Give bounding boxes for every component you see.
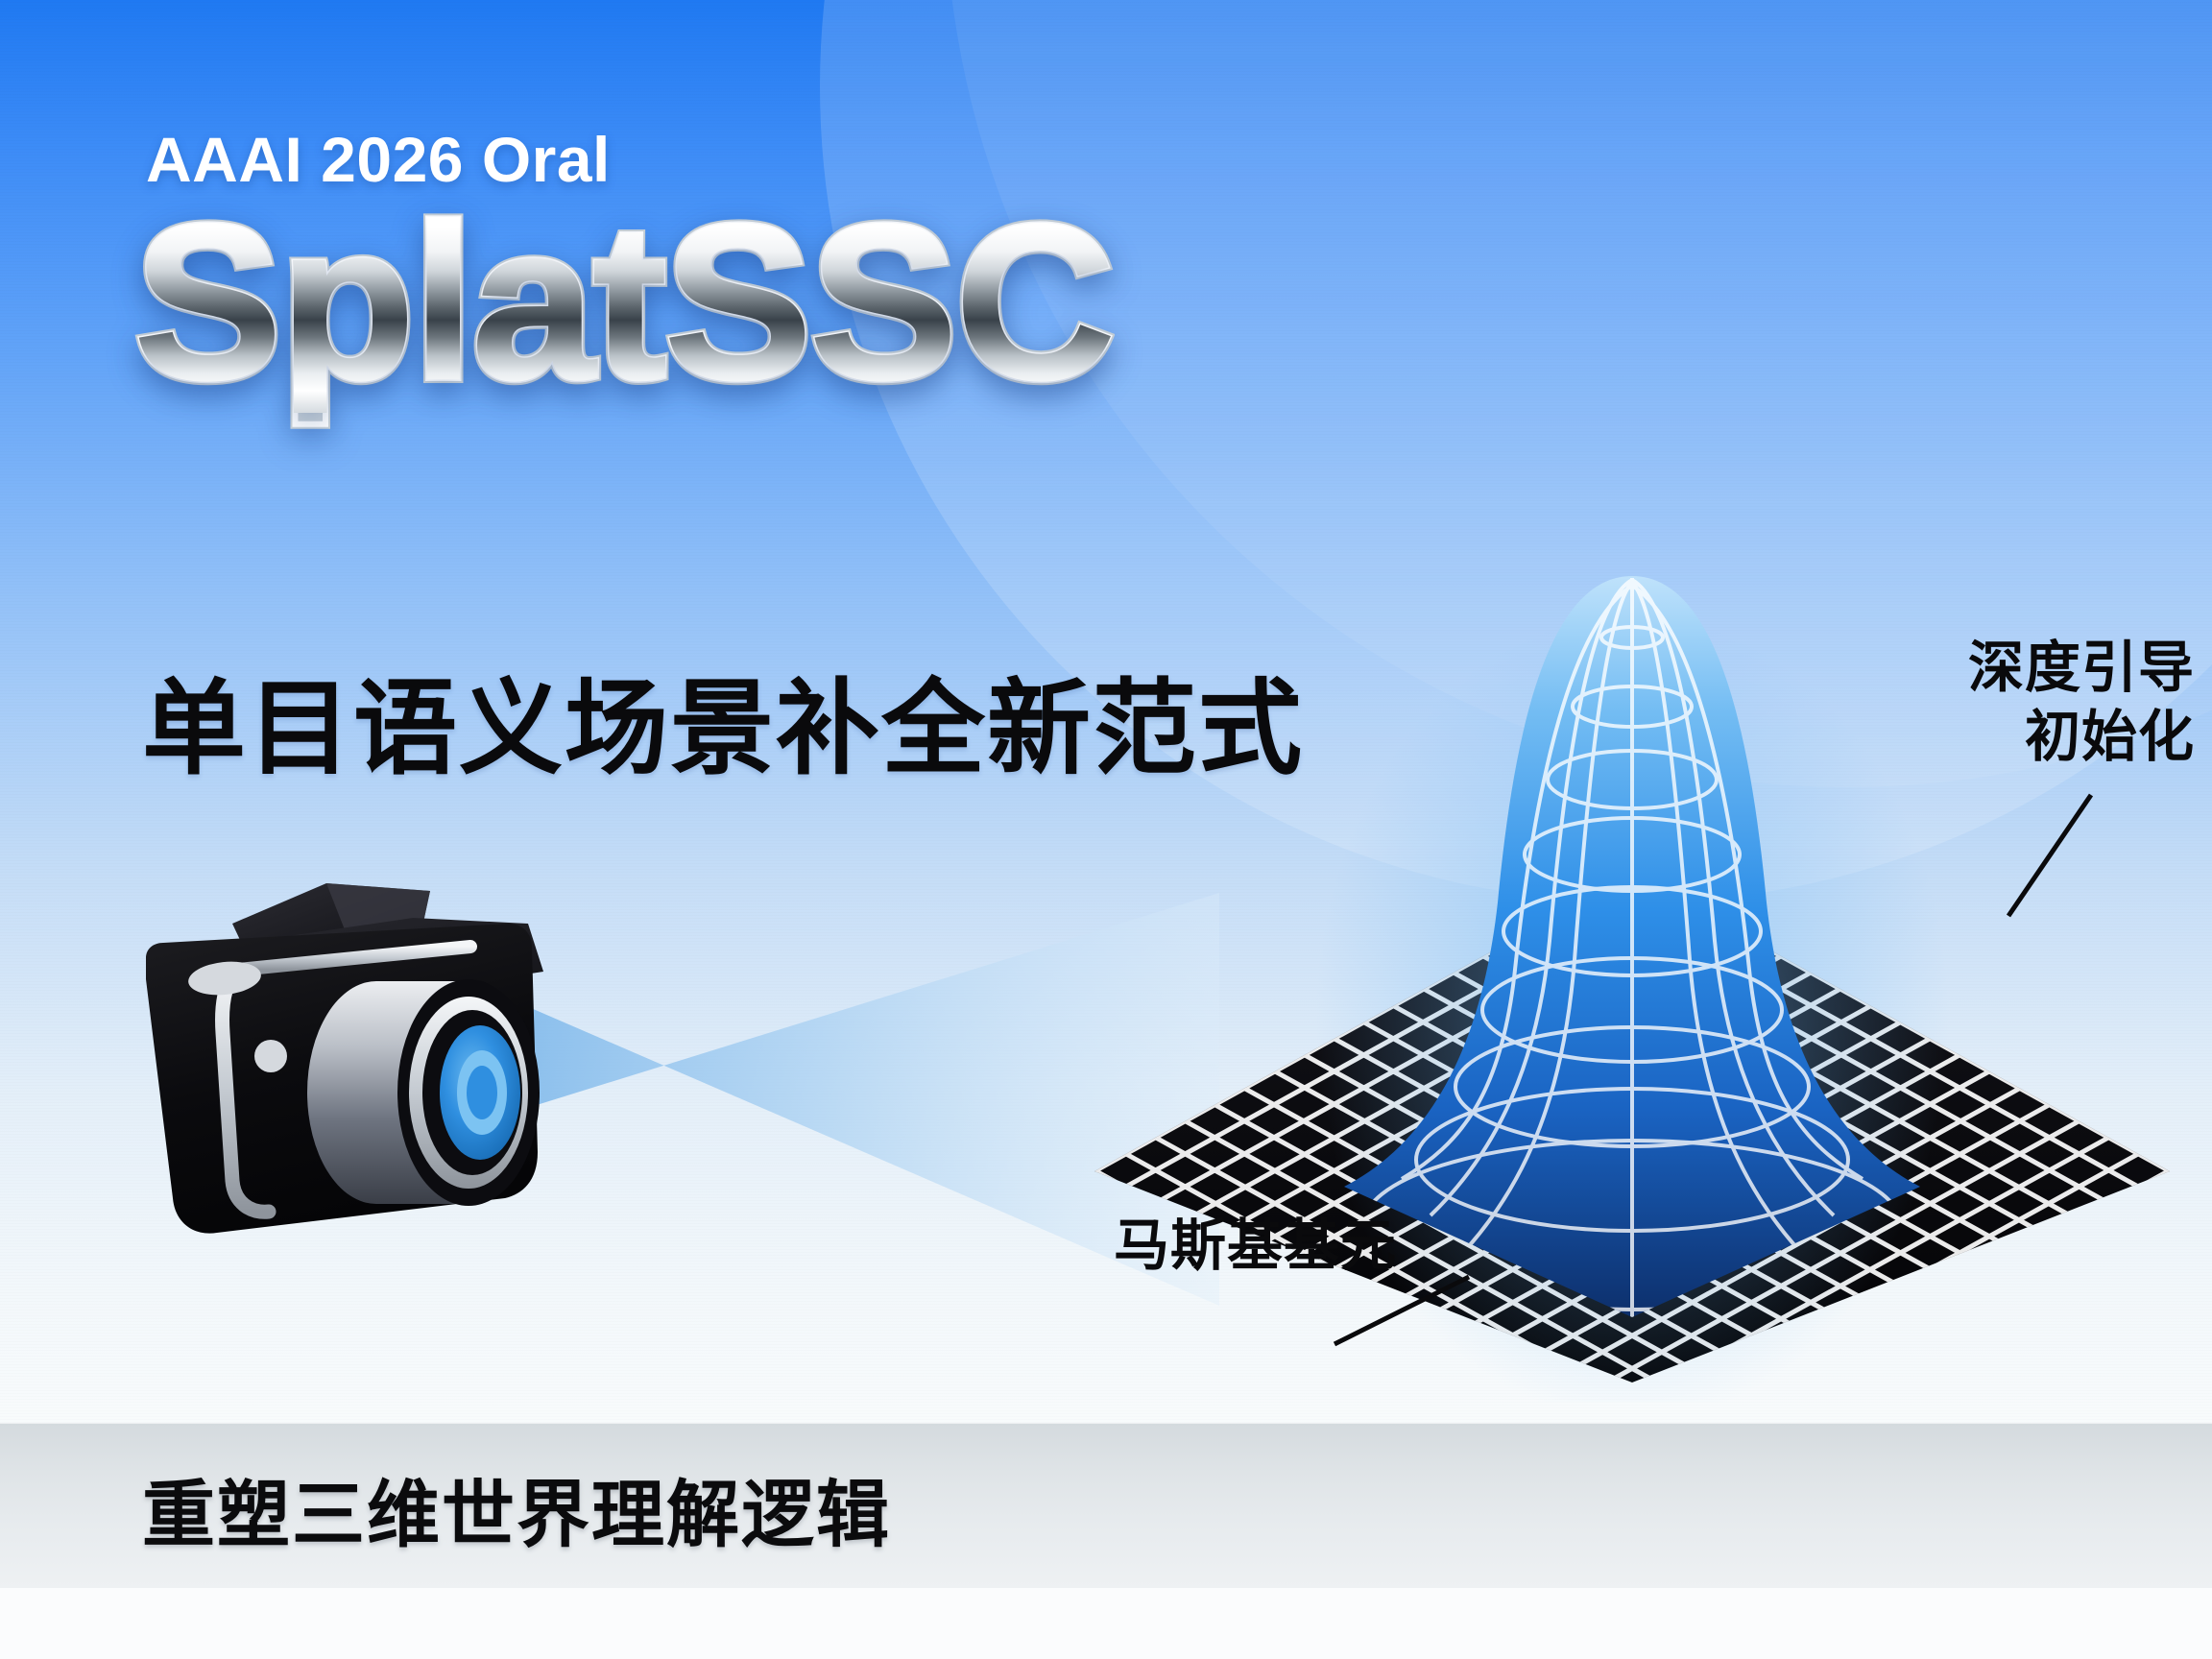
callout-maski: 马斯基基元	[1114, 1212, 1397, 1281]
footer-white-strip	[0, 1588, 2212, 1659]
callout-depth-line1: 深度引导	[1968, 634, 2195, 703]
callout-depth-line2: 初始化	[1968, 703, 2195, 772]
main-title-chrome: SplatSSC	[134, 192, 1113, 413]
leader-line-depth	[2008, 795, 2091, 916]
callout-depth-init: 深度引导 初始化	[1968, 634, 2195, 772]
poster-canvas: AAAI 2026 Oral SplatSSC SplatSSC SplatSS…	[0, 0, 2212, 1659]
footer-tagline: 重塑三维世界理解逻辑	[142, 1455, 891, 1561]
camera-icon	[125, 864, 624, 1248]
main-title: SplatSSC SplatSSC SplatSSC	[134, 192, 1479, 413]
